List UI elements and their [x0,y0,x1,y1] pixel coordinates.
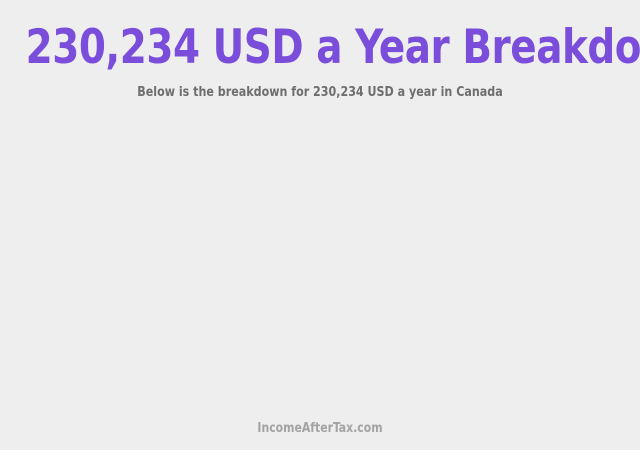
page-subtitle: Below is the breakdown for 230,234 USD a… [16,74,624,101]
chart-empty-placeholder [0,112,640,410]
page-footer: IncomeAfterTax.com [0,420,640,438]
chart-plot-area [0,112,640,410]
income-breakdown-page: 230,234 USD a Year Breakdown Below is th… [0,0,640,450]
site-watermark: IncomeAfterTax.com [22,420,617,438]
page-header: 230,234 USD a Year Breakdown Below is th… [0,0,640,101]
page-title: 230,234 USD a Year Breakdown [26,0,615,74]
